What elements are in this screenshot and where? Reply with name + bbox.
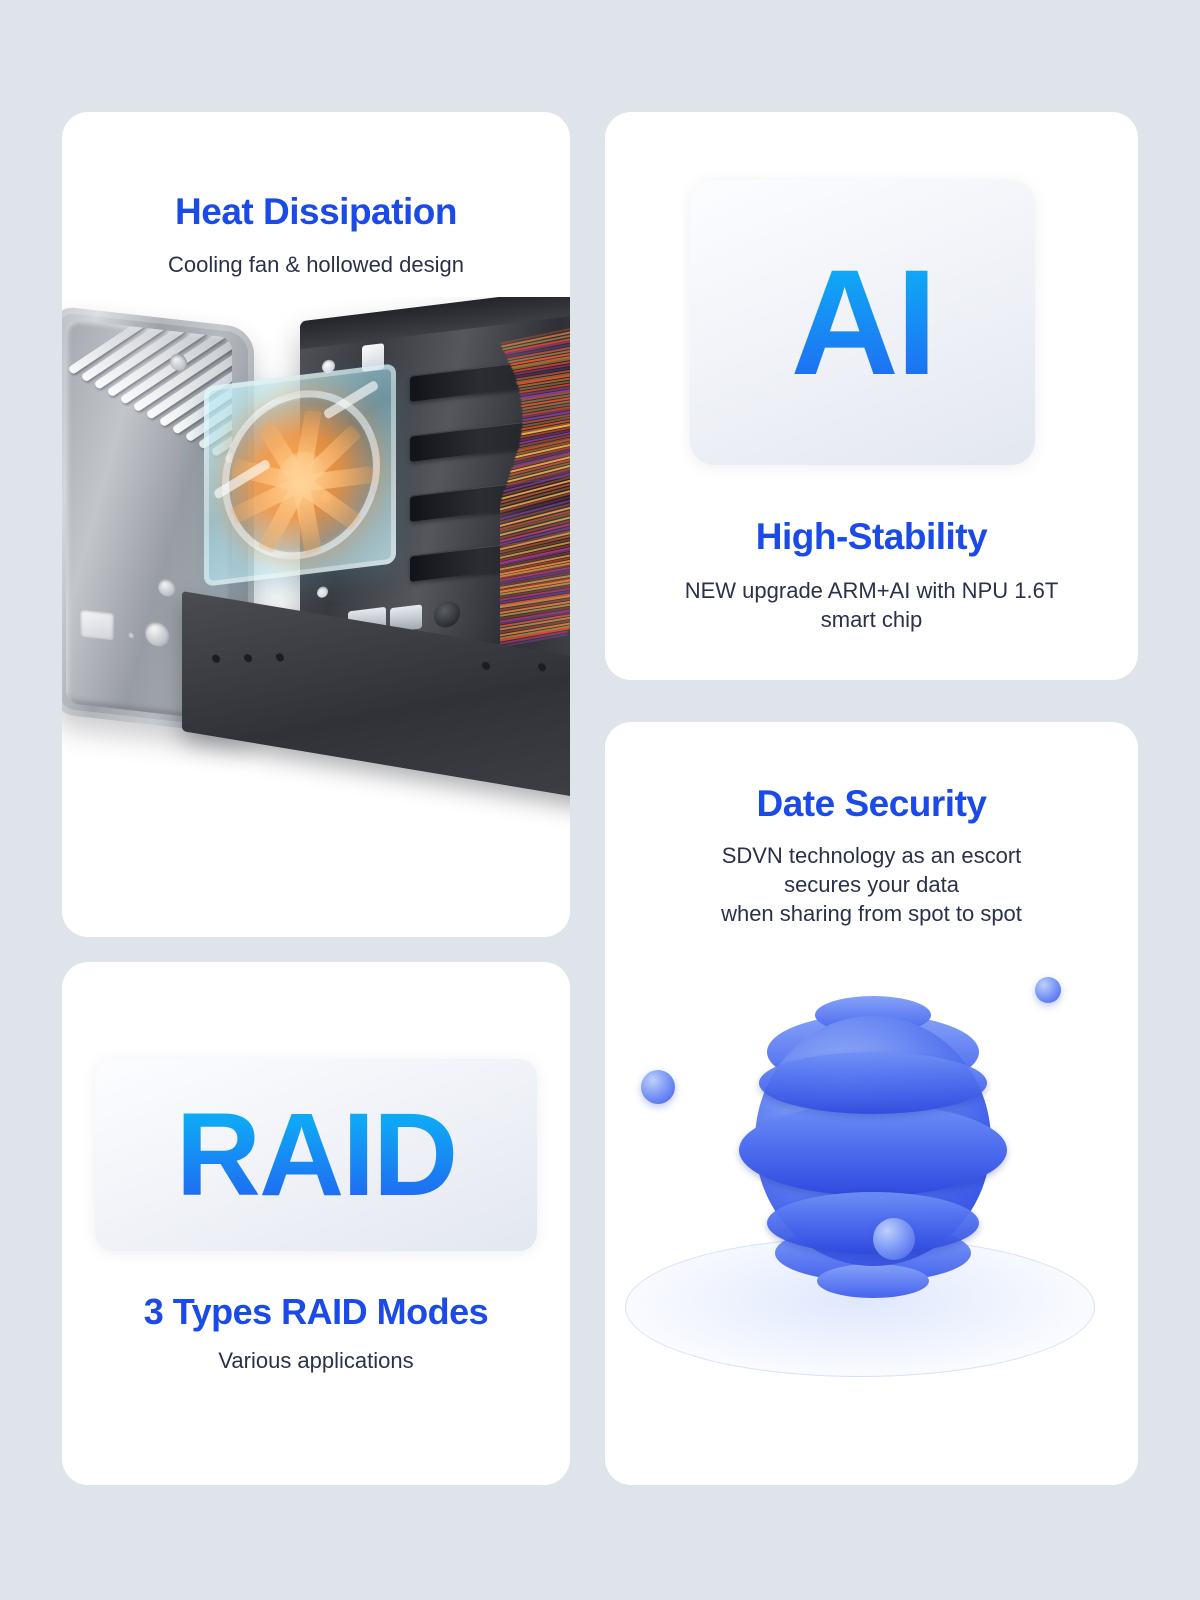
nas-panel-pinhole bbox=[128, 631, 135, 639]
date-security-subline-line1: SDVN technology as an escort bbox=[722, 843, 1022, 868]
globe-floating-bubble-front bbox=[873, 1218, 915, 1260]
globe-band-bottom-cap bbox=[817, 1264, 929, 1298]
feature-grid: Heat Dissipation Cooling fan & hollowed … bbox=[0, 0, 1200, 1600]
high-stability-subline-line2: smart chip bbox=[821, 607, 922, 632]
nas-power-button bbox=[434, 600, 460, 629]
feature-card-high-stability: AI High-Stability NEW upgrade ARM+AI wit… bbox=[605, 112, 1138, 680]
feature-card-raid: RAID 3 Types RAID Modes Various applicat… bbox=[62, 962, 570, 1485]
high-stability-subline: NEW upgrade ARM+AI with NPU 1.6T smart c… bbox=[605, 576, 1138, 635]
feature-card-heat-dissipation: Heat Dissipation Cooling fan & hollowed … bbox=[62, 112, 570, 937]
globe-floating-bubble-right bbox=[1035, 977, 1061, 1003]
globe-3d-image bbox=[605, 967, 1138, 1477]
globe-band-equator bbox=[739, 1104, 1007, 1196]
heat-dissipation-headline: Heat Dissipation bbox=[62, 192, 570, 233]
globe-floating-bubble-left bbox=[641, 1070, 675, 1104]
nas-panel-hole-bottom bbox=[145, 620, 170, 648]
raid-logo-plate: RAID bbox=[95, 1059, 537, 1251]
nas-cooling-fan-module bbox=[204, 363, 396, 587]
high-stability-headline: High-Stability bbox=[605, 517, 1138, 558]
ai-logo-text: AI bbox=[690, 180, 1035, 465]
date-security-subline-line2: secures your data bbox=[784, 872, 959, 897]
raid-subline: Various applications bbox=[62, 1346, 570, 1375]
date-security-subline-line3: when sharing from spot to spot bbox=[721, 901, 1022, 926]
raid-headline: 3 Types RAID Modes bbox=[62, 1292, 570, 1332]
ai-logo-plate: AI bbox=[690, 180, 1035, 465]
nas-airflow-streaks bbox=[500, 297, 570, 657]
date-security-subline: SDVN technology as an escort secures you… bbox=[605, 841, 1138, 929]
raid-logo-text: RAID bbox=[95, 1059, 537, 1251]
high-stability-subline-line1: NEW upgrade ARM+AI with NPU 1.6T bbox=[685, 578, 1059, 603]
globe-assembly bbox=[723, 992, 1023, 1312]
nas-chassis-hole bbox=[317, 586, 328, 598]
heat-dissipation-subline: Cooling fan & hollowed design bbox=[62, 250, 570, 279]
feature-card-date-security: Date Security SDVN technology as an esco… bbox=[605, 722, 1138, 1485]
date-security-headline: Date Security bbox=[605, 784, 1138, 825]
globe-band-upper-front bbox=[759, 1052, 987, 1114]
nas-panel-square-cutout bbox=[80, 609, 114, 641]
nas-cooling-image bbox=[62, 297, 570, 937]
